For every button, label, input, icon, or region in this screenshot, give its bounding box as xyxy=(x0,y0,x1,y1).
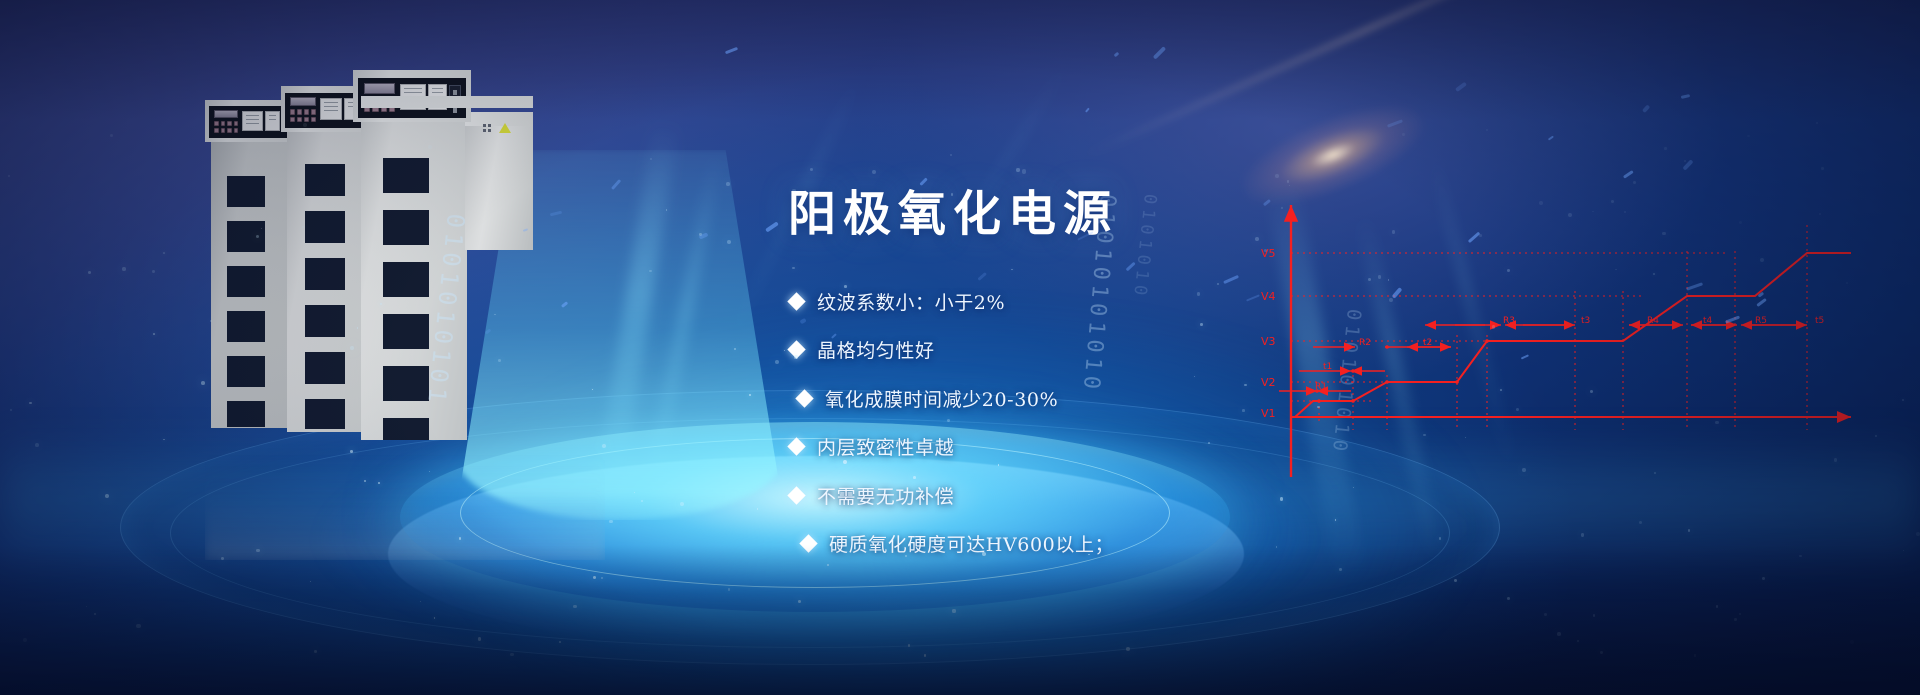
particle xyxy=(1715,421,1719,425)
particle xyxy=(8,175,10,177)
particle xyxy=(1739,613,1742,616)
particle xyxy=(1688,529,1691,532)
particle xyxy=(163,439,165,441)
particle xyxy=(10,409,12,411)
light-dash xyxy=(1126,262,1136,272)
control-keypad xyxy=(214,121,238,133)
particle xyxy=(314,650,317,653)
control-lcd xyxy=(364,83,395,94)
control-lcd xyxy=(290,97,316,106)
particle xyxy=(105,494,109,498)
particle xyxy=(88,271,91,274)
particle xyxy=(699,233,701,235)
light-dash xyxy=(1467,232,1479,243)
particle xyxy=(1454,579,1457,582)
particle xyxy=(459,537,461,539)
particle xyxy=(256,549,259,552)
lens-flare-icon xyxy=(1232,87,1434,223)
particle xyxy=(1392,230,1395,233)
particle xyxy=(1539,201,1543,205)
particle xyxy=(1875,435,1877,437)
particle xyxy=(680,502,684,506)
particle xyxy=(1639,521,1642,524)
particle xyxy=(153,333,155,335)
cabinet-side-extension xyxy=(465,122,533,250)
particle xyxy=(420,601,421,602)
feature-text: 内层致密性卓越 xyxy=(817,433,954,460)
particle xyxy=(1275,174,1279,178)
particle xyxy=(1557,632,1561,636)
chart-ytick-v5: V5 xyxy=(1261,247,1276,260)
particle xyxy=(924,654,927,657)
list-item: 硬质氧化硬度可达HV600以上； xyxy=(790,531,1350,557)
cabinet-reflection xyxy=(205,440,605,560)
light-dash xyxy=(1623,171,1634,180)
particle xyxy=(1255,237,1259,241)
particle xyxy=(757,508,759,510)
chart-seg-r2: R2 xyxy=(1359,338,1371,348)
particle xyxy=(1819,213,1821,215)
particle xyxy=(1217,283,1219,285)
particle xyxy=(1507,597,1510,600)
feature-text: 晶格均匀性好 xyxy=(817,336,935,363)
particle xyxy=(510,653,514,657)
diamond-bullet-icon xyxy=(787,486,805,504)
diamond-bullet-icon xyxy=(787,437,805,455)
cabinet-front-top xyxy=(361,96,533,108)
particle xyxy=(601,577,603,579)
light-dash xyxy=(1682,159,1693,171)
chart-seg-t5: t5 xyxy=(1815,316,1824,326)
particle xyxy=(1664,147,1667,150)
chart-seg-t2: t2 xyxy=(1423,338,1432,348)
feature-list: 纹波系数小：小于2% 晶格均匀性好 氧化成膜时间减少20-30% 内层致密性卓越… xyxy=(790,288,1350,579)
light-dash xyxy=(724,46,738,54)
particle xyxy=(23,638,27,642)
diamond-bullet-icon xyxy=(787,340,805,358)
particle xyxy=(1289,185,1290,186)
chart-seg-r5: R5 xyxy=(1755,316,1767,326)
light-dash xyxy=(1391,287,1402,299)
particle xyxy=(1590,390,1593,393)
particle xyxy=(1633,181,1636,184)
particle xyxy=(1439,537,1442,540)
feature-text: 不需要无功补偿 xyxy=(817,482,954,509)
particle xyxy=(1593,614,1595,616)
particle xyxy=(1568,213,1572,217)
particle xyxy=(792,267,794,269)
particle xyxy=(1378,275,1381,278)
particle xyxy=(163,252,165,254)
particle xyxy=(1762,577,1765,580)
light-dash xyxy=(1756,298,1766,307)
particle xyxy=(364,480,366,482)
particle xyxy=(478,637,482,641)
particle xyxy=(1500,389,1502,391)
diamond-bullet-icon xyxy=(799,534,817,552)
light-dash xyxy=(611,179,621,190)
particle xyxy=(573,605,577,609)
particle xyxy=(1662,232,1665,235)
feature-text: 纹波系数小：小于2% xyxy=(817,288,1005,315)
particle xyxy=(1716,605,1718,607)
list-item: 内层致密性卓越 xyxy=(790,434,1350,460)
particle xyxy=(609,520,613,524)
particle xyxy=(1486,129,1488,131)
particle xyxy=(122,267,126,271)
particle xyxy=(221,557,224,560)
particle xyxy=(784,350,785,351)
list-item: 晶格均匀性好 xyxy=(790,337,1350,363)
light-dash xyxy=(1113,52,1119,58)
particle xyxy=(1821,167,1824,170)
particle xyxy=(136,624,140,628)
particle xyxy=(1615,269,1616,270)
particle xyxy=(727,240,731,244)
particle xyxy=(649,270,652,273)
warning-triangle-icon xyxy=(499,123,511,133)
particle xyxy=(559,641,561,643)
particle xyxy=(1850,640,1854,644)
particle xyxy=(429,471,430,472)
particle xyxy=(1799,555,1802,558)
particle xyxy=(602,444,606,448)
particle xyxy=(1402,133,1405,136)
particle xyxy=(1846,282,1848,284)
particle xyxy=(86,606,87,607)
particle xyxy=(1287,180,1290,183)
particle xyxy=(1516,408,1519,411)
light-dash xyxy=(1681,94,1690,99)
particle xyxy=(310,581,311,582)
particle xyxy=(1592,211,1593,212)
control-keypad xyxy=(290,109,316,122)
light-dash xyxy=(765,222,779,233)
cabinet-back xyxy=(211,128,295,428)
particle xyxy=(1479,234,1482,237)
particle xyxy=(152,270,155,273)
feature-text: 氧化成膜时间减少20-30% xyxy=(825,385,1058,412)
light-shaft xyxy=(1355,212,1445,567)
particle xyxy=(350,450,353,453)
control-lcd xyxy=(214,110,238,118)
particle xyxy=(1581,533,1585,537)
power-supply-cabinets xyxy=(205,100,605,440)
particle xyxy=(1264,249,1267,252)
particle xyxy=(1739,221,1742,224)
particle xyxy=(434,617,435,618)
particle xyxy=(593,576,597,580)
particle xyxy=(952,609,955,612)
particle xyxy=(798,600,801,603)
particle xyxy=(1694,654,1697,657)
particle xyxy=(1126,647,1130,651)
page-title: 阳极氧化电源 xyxy=(788,174,1118,244)
light-dash xyxy=(1455,82,1467,92)
particle xyxy=(726,182,730,186)
particle xyxy=(728,588,731,591)
light-dash xyxy=(1758,291,1765,298)
light-dash xyxy=(1725,315,1740,323)
feature-text: 硬质氧化硬度可达HV600以上； xyxy=(829,530,1114,557)
light-dash xyxy=(1521,354,1529,359)
particle xyxy=(1624,211,1626,213)
light-dash xyxy=(1085,108,1090,114)
list-item: 氧化成膜时间减少20-30% xyxy=(790,385,1350,411)
particle xyxy=(1834,458,1837,461)
particle xyxy=(1747,135,1750,138)
particle xyxy=(1492,325,1496,329)
particle xyxy=(1611,200,1614,203)
light-shaft xyxy=(634,152,723,547)
particle xyxy=(1507,269,1511,273)
particle xyxy=(1423,434,1426,437)
particle xyxy=(1281,207,1283,209)
promotional-banner: 0101010101 01010101010 010101010 0101010 xyxy=(0,0,1920,695)
particle xyxy=(634,492,635,493)
light-dash xyxy=(1263,198,1272,206)
particle xyxy=(950,154,953,157)
list-item: 不需要无功补偿 xyxy=(790,482,1350,508)
particle xyxy=(1389,298,1393,302)
cabinet-front xyxy=(361,100,467,440)
light-dash xyxy=(1387,119,1403,128)
particle xyxy=(1522,468,1526,472)
particle xyxy=(666,209,668,211)
particle xyxy=(1388,279,1390,281)
chart-seg-t3: t3 xyxy=(1581,316,1590,326)
particle xyxy=(1465,437,1466,438)
particle xyxy=(1016,168,1019,171)
particle xyxy=(1902,399,1904,401)
particle xyxy=(1816,122,1818,124)
chart-seg-r4: R4 xyxy=(1647,316,1659,326)
particle xyxy=(1653,273,1655,275)
brand-mark-icon xyxy=(483,124,491,132)
particle xyxy=(94,613,96,615)
light-dash xyxy=(1642,105,1650,113)
particle xyxy=(1654,472,1656,474)
particle xyxy=(35,443,39,447)
light-dash xyxy=(1153,46,1166,59)
particle xyxy=(734,348,736,350)
chart-seg-r3: R3 xyxy=(1503,316,1515,326)
particle xyxy=(1760,258,1764,262)
light-dash xyxy=(977,272,986,281)
particle xyxy=(378,482,380,484)
particle xyxy=(775,360,779,364)
particle xyxy=(29,402,31,404)
particle xyxy=(1544,613,1547,616)
diamond-bullet-icon xyxy=(795,389,813,407)
chart-seg-t4: t4 xyxy=(1703,316,1713,326)
particle xyxy=(641,500,643,502)
particle xyxy=(810,168,813,171)
list-item: 纹波系数小：小于2% xyxy=(790,288,1350,314)
light-shaft xyxy=(1428,154,1518,477)
particle xyxy=(1368,278,1371,281)
light-dash xyxy=(1686,282,1703,290)
particle xyxy=(1600,651,1603,654)
diamond-bullet-icon xyxy=(787,292,805,310)
particle xyxy=(1577,640,1579,642)
particle xyxy=(749,394,751,396)
particle xyxy=(1011,269,1012,270)
binary-decor-text: 0101010 xyxy=(1129,193,1160,301)
particle xyxy=(1916,532,1920,536)
particle xyxy=(1734,618,1737,621)
particle xyxy=(1903,550,1904,551)
light-dash xyxy=(699,232,709,239)
particle xyxy=(650,158,652,160)
particle xyxy=(908,644,910,646)
lens-flare-streak xyxy=(1084,0,1597,157)
particle xyxy=(1022,169,1026,173)
light-dash xyxy=(1223,275,1239,284)
particle xyxy=(1684,160,1686,162)
light-dash xyxy=(1548,136,1554,141)
particle xyxy=(1353,487,1354,488)
particle xyxy=(110,134,113,137)
